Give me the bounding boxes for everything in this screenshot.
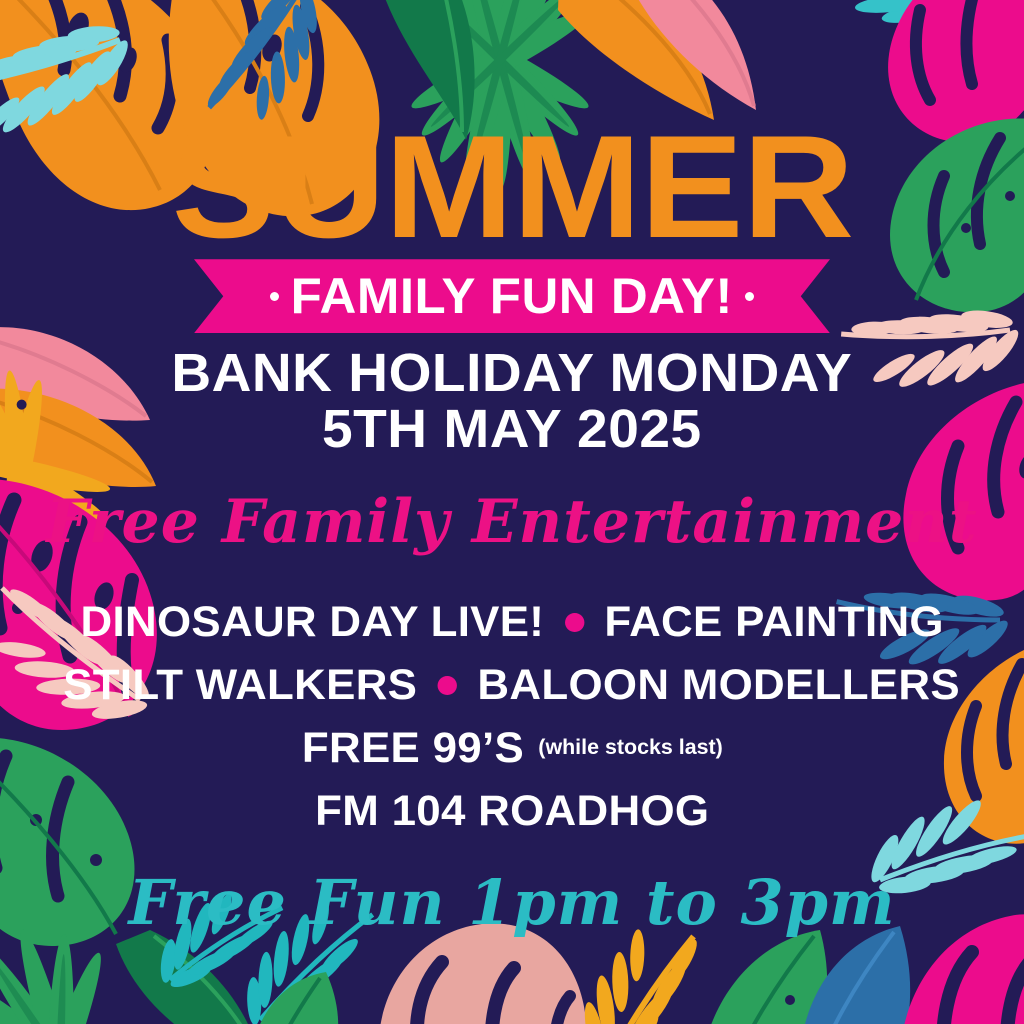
leaf-banana-green-bottomright [700, 930, 827, 1024]
offer-row: FREE 99’S (while stocks last) [302, 724, 723, 773]
activities-list: DINOSAUR DAY LIVE! FACE PAINTING STILT W… [72, 598, 951, 836]
leaf-monstera-green-right [890, 118, 1024, 312]
bullet-dot-icon [564, 613, 583, 632]
event-date-line1: BANK HOLIDAY MONDAY [172, 345, 853, 401]
activity-label: FACE PAINTING [604, 598, 943, 647]
ribbon-dot-right [745, 292, 754, 301]
offer-label: FREE 99’S [302, 724, 524, 773]
ribbon-label: FAMILY FUN DAY! [291, 267, 733, 325]
activity-label: STILT WALKERS [64, 661, 418, 710]
summer-family-fun-day-poster: SUMMER FAMILY FUN DAY! BANK HOLIDAY MOND… [0, 0, 1024, 1024]
activity-row: STILT WALKERS BALOON MODELLERS [64, 661, 961, 710]
page-title: SUMMER [171, 118, 852, 255]
activity-label: BALOON MODELLERS [478, 661, 960, 710]
radio-row: FM 104 ROADHOG [315, 787, 709, 836]
leaf-monstera-magenta-bottomright [899, 914, 1024, 1024]
ribbon-banner: FAMILY FUN DAY! [194, 259, 830, 333]
event-date: BANK HOLIDAY MONDAY 5TH MAY 2025 [172, 345, 853, 457]
event-times: Free Fun 1pm to 3pm [128, 872, 895, 934]
bullet-dot-icon [438, 676, 457, 695]
activity-row: DINOSAUR DAY LIVE! FACE PAINTING [80, 598, 943, 647]
ribbon-dot-left [270, 292, 279, 301]
event-date-line2: 5TH MAY 2025 [172, 401, 853, 457]
tagline: Free Family Entertainment [46, 492, 977, 552]
offer-note: (while stocks last) [538, 736, 723, 760]
radio-label: FM 104 ROADHOG [315, 787, 709, 836]
activity-label: DINOSAUR DAY LIVE! [80, 598, 544, 647]
